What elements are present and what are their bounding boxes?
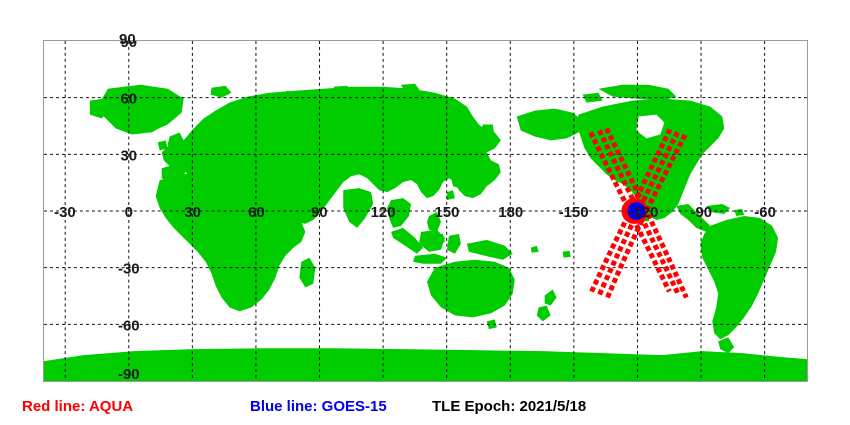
map-plot-area: -30 0 30 60 90 120 150 180 -150 -120 -90… [43, 40, 808, 382]
lon-label-n150: -150 [559, 204, 589, 221]
legend: Red line: AQUA Blue line: GOES-15 TLE Ep… [0, 392, 850, 425]
lat-label-90-top: 90 [119, 31, 136, 48]
lat-label-30: 30 [120, 147, 137, 164]
sulawesi [447, 234, 461, 254]
lon-label-n120: -120 [628, 204, 658, 221]
lat-label-60: 60 [120, 91, 137, 108]
india [343, 188, 373, 228]
lon-label-30: 30 [184, 204, 201, 221]
legend-tle-epoch: TLE Epoch: 2021/5/18 [432, 398, 586, 415]
lat-label-n90: -90 [118, 366, 140, 381]
lon-label-180: 180 [498, 204, 523, 221]
lon-label-n60: -60 [754, 204, 776, 221]
lon-label-150: 150 [434, 204, 459, 221]
lon-label-60: 60 [248, 204, 265, 221]
south-america [700, 216, 778, 339]
alaska [517, 109, 583, 141]
british-isles [158, 132, 184, 152]
svalbard [211, 86, 232, 98]
lon-label-90: 90 [311, 204, 328, 221]
antarctic-peninsula [718, 337, 734, 353]
canadian-arctic [583, 85, 677, 103]
lon-label-n90: -90 [690, 204, 712, 221]
lon-label-m30: -30 [54, 204, 76, 221]
java [413, 254, 447, 264]
new-zealand [537, 290, 557, 322]
lon-label-120: 120 [371, 204, 396, 221]
lat-label-n30: -30 [118, 261, 140, 278]
lon-label-0: 0 [125, 204, 133, 221]
antarctica [44, 348, 807, 381]
legend-red-line-aqua: Red line: AQUA [22, 398, 133, 415]
new-guinea [467, 240, 513, 260]
world-map-svg: -30 0 30 60 90 120 150 180 -150 -120 -90… [44, 41, 807, 381]
sumatra [391, 228, 423, 254]
satellite-ground-track-map: -30 0 30 60 90 120 150 180 -150 -120 -90… [0, 0, 850, 425]
madagascar [299, 258, 315, 288]
land-layer [44, 84, 807, 381]
borneo [419, 230, 445, 252]
legend-blue-line-goes15: Blue line: GOES-15 [250, 398, 387, 415]
lat-label-n60: -60 [118, 317, 140, 334]
australia [427, 260, 515, 318]
